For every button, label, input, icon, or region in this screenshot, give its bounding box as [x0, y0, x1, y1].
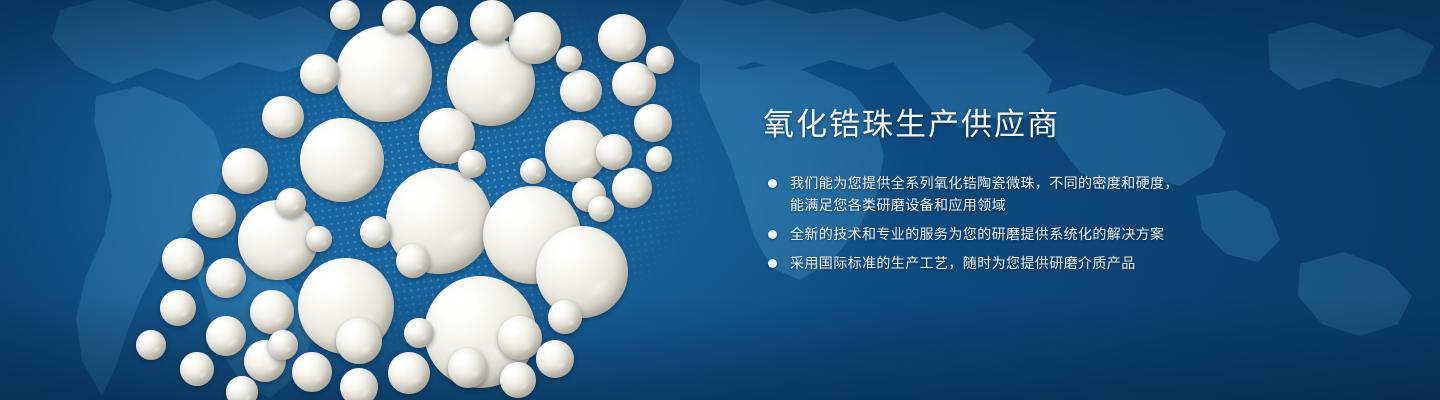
zirconia-beads-image — [0, 0, 760, 400]
list-item-line: 全新的技术和专业的服务为您的研磨提供系统化的解决方案 — [790, 223, 1233, 245]
list-item: 我们能为您提供全系列氧化锆陶瓷微珠，不同的密度和硬度， 能满足您各类研磨设备和应… — [763, 172, 1233, 216]
list-item-line: 能满足您各类研磨设备和应用领域 — [790, 194, 1233, 216]
banner-copy-block: 氧化锆珠生产供应商 我们能为您提供全系列氧化锆陶瓷微珠，不同的密度和硬度， 能满… — [763, 106, 1233, 274]
bullet-dot-icon — [768, 179, 777, 188]
list-item: 全新的技术和专业的服务为您的研磨提供系统化的解决方案 — [763, 223, 1233, 245]
list-item-line: 采用国际标准的生产工艺，随时为您提供研磨介质产品 — [790, 252, 1233, 274]
bullet-dot-icon — [768, 230, 777, 239]
page-title: 氧化锆珠生产供应商 — [763, 106, 1233, 144]
feature-list: 我们能为您提供全系列氧化锆陶瓷微珠，不同的密度和硬度， 能满足您各类研磨设备和应… — [763, 172, 1233, 274]
bullet-dot-icon — [768, 259, 777, 268]
list-item-line: 我们能为您提供全系列氧化锆陶瓷微珠，不同的密度和硬度， — [790, 172, 1233, 194]
list-item: 采用国际标准的生产工艺，随时为您提供研磨介质产品 — [763, 252, 1233, 274]
hero-banner: 氧化锆珠生产供应商 我们能为您提供全系列氧化锆陶瓷微珠，不同的密度和硬度， 能满… — [0, 0, 1440, 400]
